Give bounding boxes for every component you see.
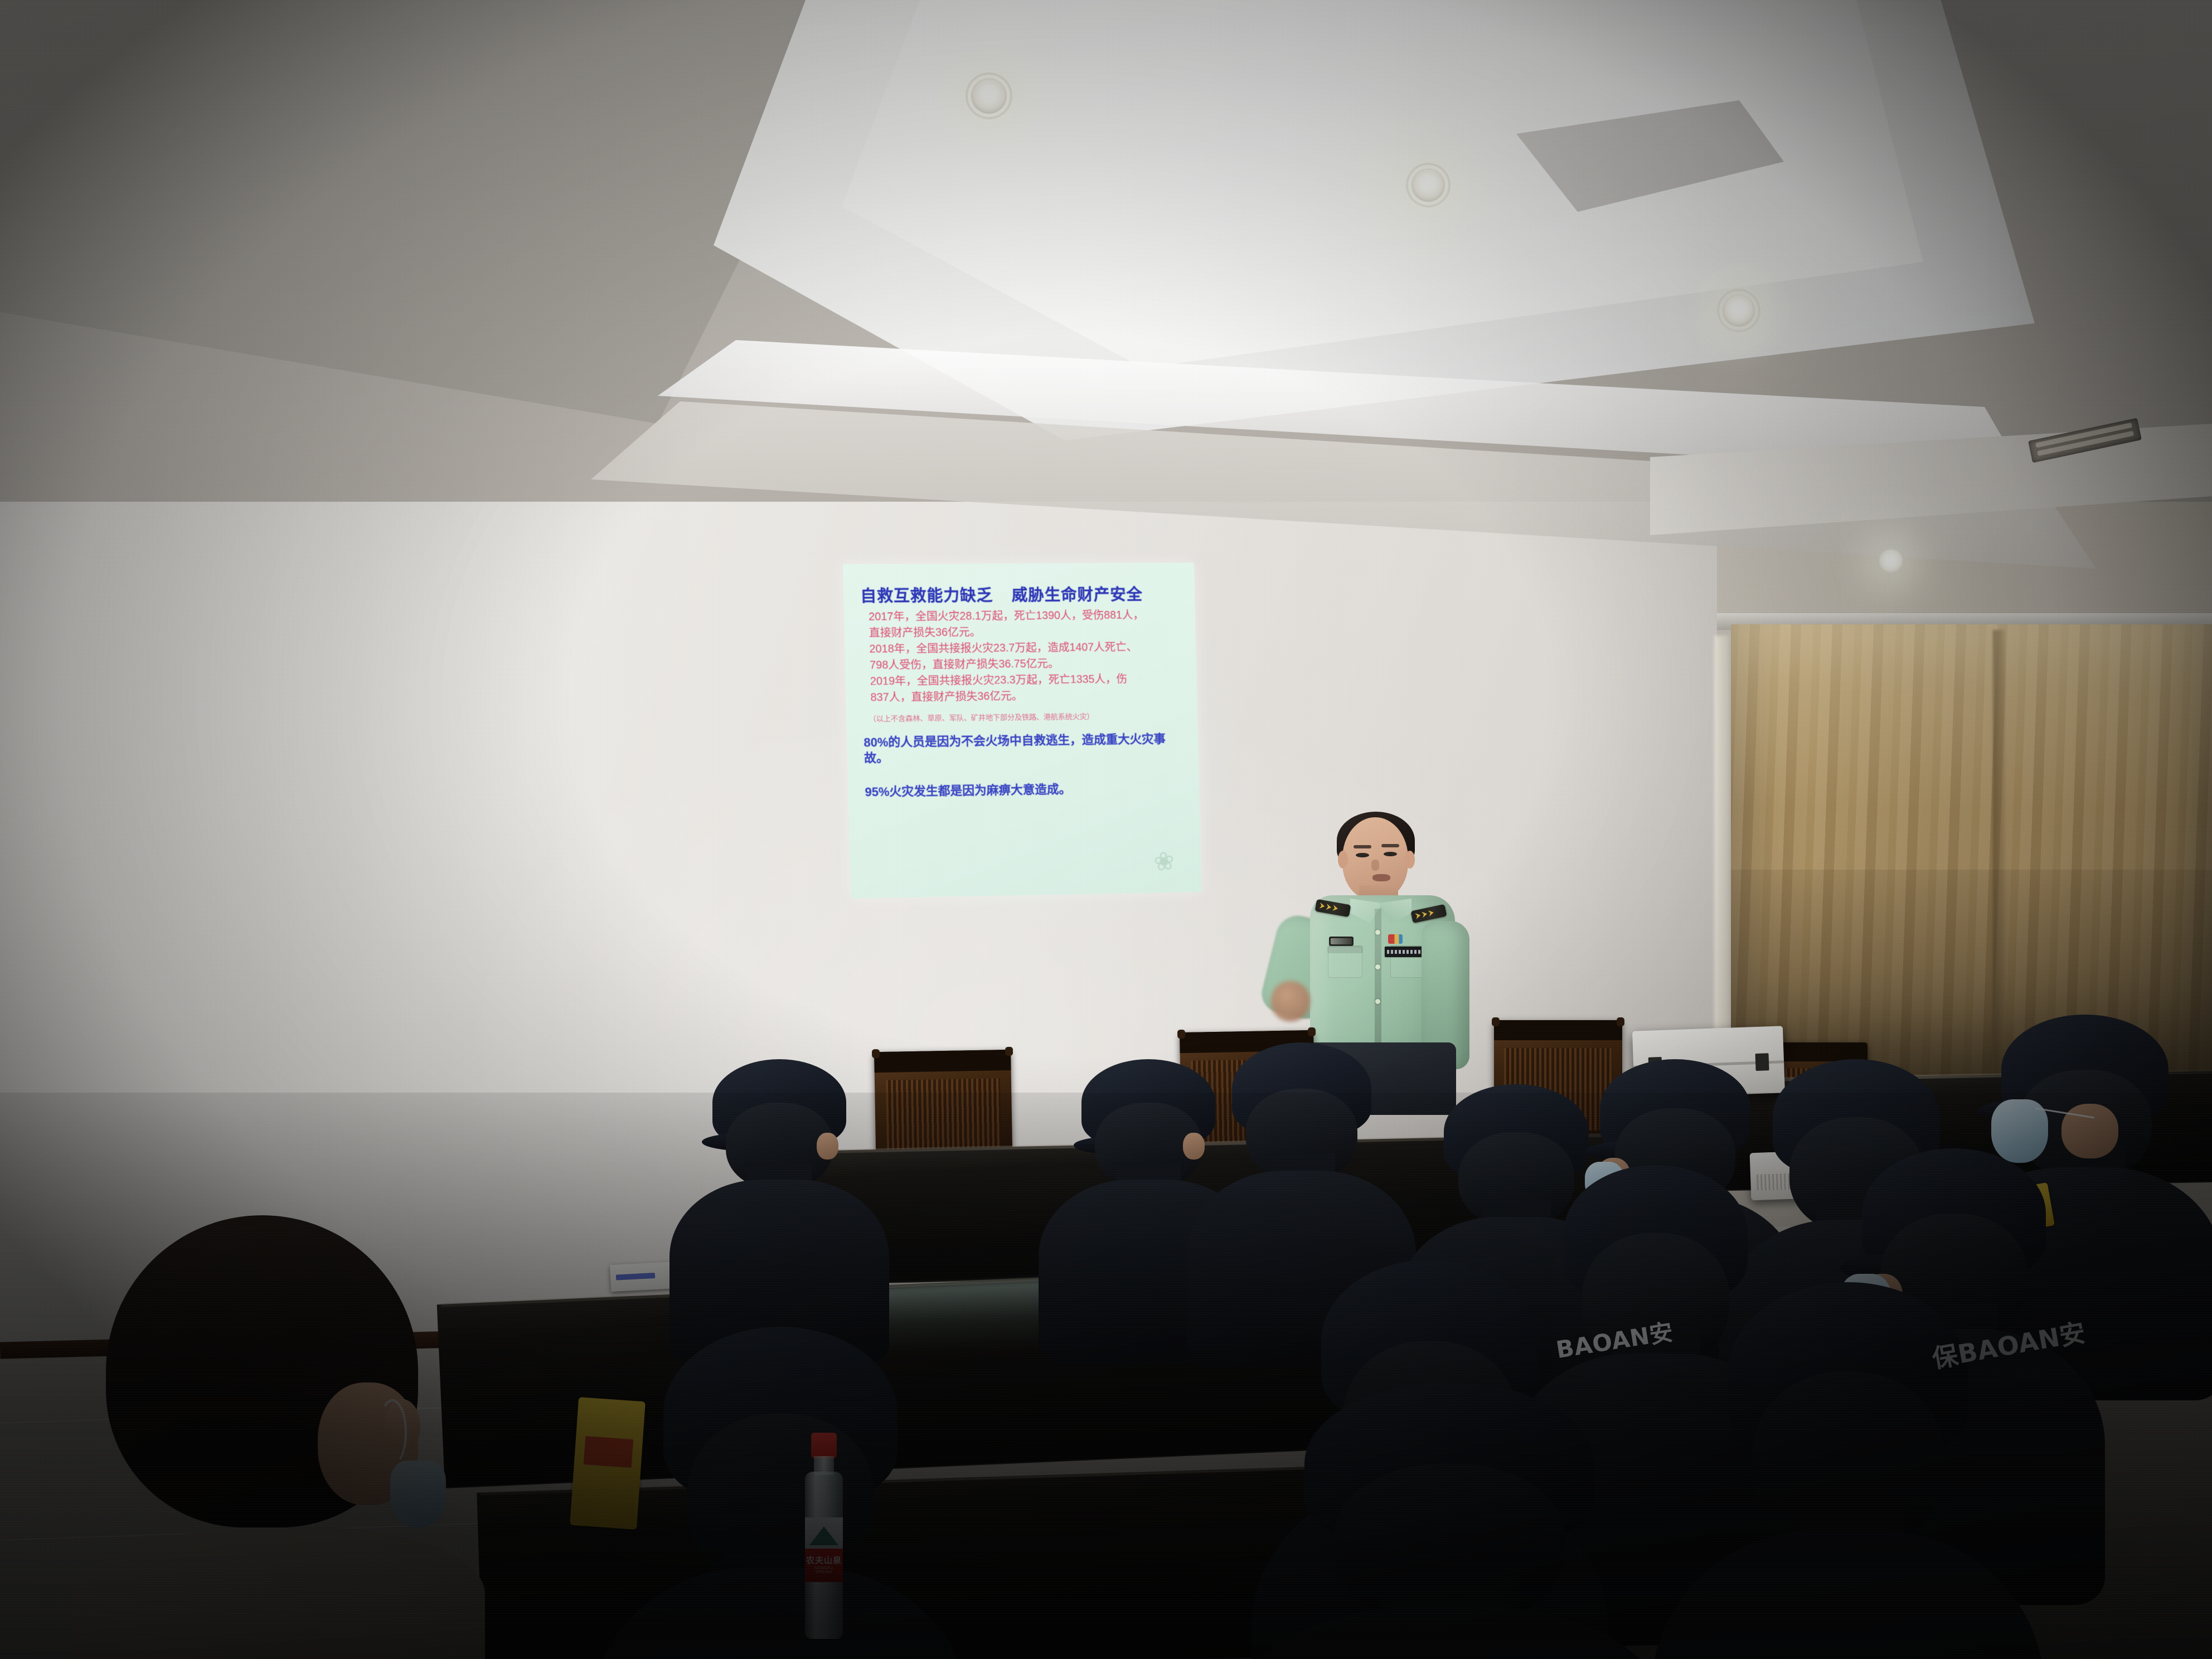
ceiling-downlight-4 [1879, 549, 1903, 574]
presenter-brow [1381, 844, 1399, 847]
attendee [1081, 1059, 1215, 1226]
attendee-baoan-right [1728, 1282, 1968, 1628]
presenter-flag-pin-icon [1388, 934, 1403, 944]
slide-surface: 自救互救能力缺乏威胁生命财产安全 2017年，全国火灾28.1万起，死亡1390… [843, 562, 1201, 898]
downlight-bulb [971, 78, 1007, 114]
presenter-pocket-flap [1327, 945, 1363, 953]
chair-knob [1308, 1027, 1316, 1036]
foreground-person-shirt [72, 1527, 485, 1659]
stat-line: 直接财产损失36亿元。 [861, 624, 1182, 641]
bottle-brand-cn: 农夫山泉 [806, 1554, 842, 1566]
highlight-2-percent: 95% [865, 785, 889, 799]
chair-knob [1617, 1017, 1624, 1026]
attendee-ear [817, 1133, 838, 1160]
attendee-ear [1183, 1133, 1204, 1160]
projection-screen: 自救互救能力缺乏威胁生命财产安全 2017年，全国火灾28.1万起，死亡1390… [843, 562, 1201, 898]
presenter-ear [1338, 851, 1348, 869]
chair-knob [1005, 1047, 1013, 1056]
foreground-person-face-mask [390, 1461, 446, 1527]
presenter-left-hand-motion-blur [1271, 981, 1310, 1021]
stat-line: 798人受伤，直接财产损失36.75亿元。 [862, 656, 1182, 673]
case-latch[interactable] [1755, 1053, 1769, 1071]
chair-top-rail [874, 1050, 1011, 1073]
attendee-face [2061, 1104, 2118, 1159]
attendee [1232, 1042, 1371, 1221]
ceiling-downlight-2 [1411, 168, 1445, 202]
highlight-2-text: 火灾发生都是因为麻痹大意造成。 [889, 783, 1071, 799]
stat-line: 2018年，全国共接报火灾23.7万起，造成1407人死亡、 [861, 639, 1182, 656]
ceiling-downlight-3 [1723, 294, 1755, 327]
ceiling-downlight-1 [971, 78, 1007, 114]
presenter-shirt-button [1375, 964, 1380, 969]
mask-strap [378, 1399, 407, 1466]
highlight-1-text: 的人员是因为不会火场中自救逃生，造成重大火灾事故。 [864, 732, 1166, 765]
conference-room-photo: 自救互救能力缺乏威胁生命财产安全 2017年，全国火灾28.1万起，死亡1390… [0, 0, 2212, 1659]
slide-statistics: 2017年，全国火灾28.1万起，死亡1390人，受伤881人， 直接财产损失3… [861, 608, 1183, 705]
chair-knob [872, 1049, 880, 1058]
slide-title-right: 威胁生命财产安全 [1011, 586, 1143, 604]
water-bottle[interactable]: 农夫山泉 NONGFU SPRING [802, 1433, 846, 1650]
foreground-person [72, 1215, 485, 1659]
slide-title-left: 自救互救能力缺乏 [860, 587, 993, 605]
presenter-chest-emblem [1329, 937, 1354, 946]
bottle-cap [811, 1433, 837, 1458]
presenter-ear [1405, 851, 1415, 869]
downlight-bulb [1723, 294, 1755, 327]
highlight-1-percent: 80% [864, 735, 888, 749]
slide-title: 自救互救能力缺乏威胁生命财产安全 [860, 581, 1181, 607]
downlight-bulb [1879, 549, 1903, 574]
stat-line: 2017年，全国火灾28.1万起，死亡1390人，受伤881人， [861, 608, 1181, 624]
slide-footnote: （以上不含森林、草原、军队、矿井地下部分及铁路、港航系统火灾） [863, 709, 1183, 724]
chair-knob [1177, 1030, 1185, 1039]
slide-watermark-icon: ❀ [1152, 845, 1195, 889]
chair-top-rail [1494, 1020, 1622, 1040]
slide-highlight-2: 95%火灾发生都是因为麻痹大意造成。 [865, 780, 1185, 800]
slide-highlight-1: 80%的人员是因为不会火场中自救逃生，造成重大火灾事故。 [864, 731, 1185, 766]
presenter-brow [1354, 845, 1371, 848]
presenter-shirt-button [1375, 999, 1380, 1004]
attendee [1304, 1382, 1594, 1659]
stat-line: 837人，直接财产损失36亿元。 [862, 687, 1183, 705]
bottle-brand-en: NONGFU SPRING [806, 1566, 842, 1574]
chair-knob [1492, 1017, 1500, 1026]
downlight-bulb [1411, 168, 1445, 202]
attendee [712, 1059, 846, 1226]
presenter-eye [1356, 853, 1369, 857]
presenter-mouth [1372, 874, 1390, 881]
attendee-armband [570, 1397, 646, 1530]
presenter-shirt-button [1375, 930, 1380, 935]
attendee [663, 1327, 898, 1659]
presenter-eye [1384, 852, 1397, 856]
stat-line: 2019年，全国共接报火灾23.3万起，死亡1335人，伤 [862, 671, 1183, 688]
presenter-nose [1371, 860, 1379, 871]
